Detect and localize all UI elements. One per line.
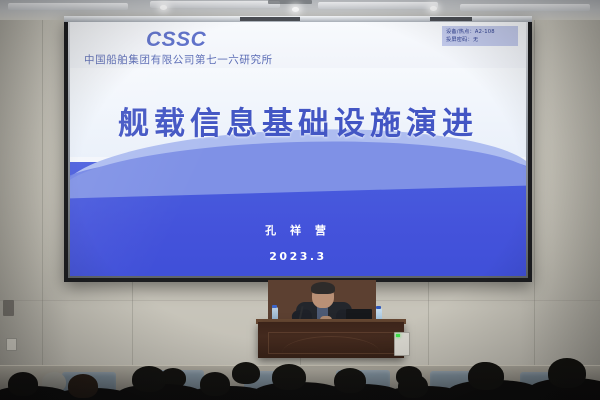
water-bottle-cap xyxy=(376,306,381,309)
ceiling-downlight xyxy=(430,6,437,11)
wall-panel-seam xyxy=(42,20,43,365)
ceiling-downlight xyxy=(292,7,299,12)
foreground-shadow xyxy=(0,366,600,400)
screen-rail-bracket xyxy=(240,17,300,21)
wall-socket xyxy=(6,338,17,351)
screen-rail-bracket xyxy=(430,17,472,21)
device-status-led xyxy=(396,334,400,337)
ceiling-light-strip xyxy=(460,4,590,11)
ceiling-light-strip xyxy=(150,1,280,8)
conference-room-photo: CSSC 中国船舶集团有限公司第七一六研究所 设备/热点：A2-108 投屏密码… xyxy=(0,0,600,400)
ceiling-light-strip xyxy=(318,2,438,9)
ceiling-light-strip xyxy=(8,3,128,10)
wall-shadow-right xyxy=(520,20,600,365)
wall-panel-seam xyxy=(534,20,535,365)
speaker-hair xyxy=(311,282,335,294)
wall-mounted-box xyxy=(3,300,14,316)
ceiling-vent xyxy=(268,0,312,4)
projection-screen-bezel xyxy=(64,16,532,282)
water-bottle-cap xyxy=(272,305,277,308)
ceiling-downlight xyxy=(160,5,167,10)
